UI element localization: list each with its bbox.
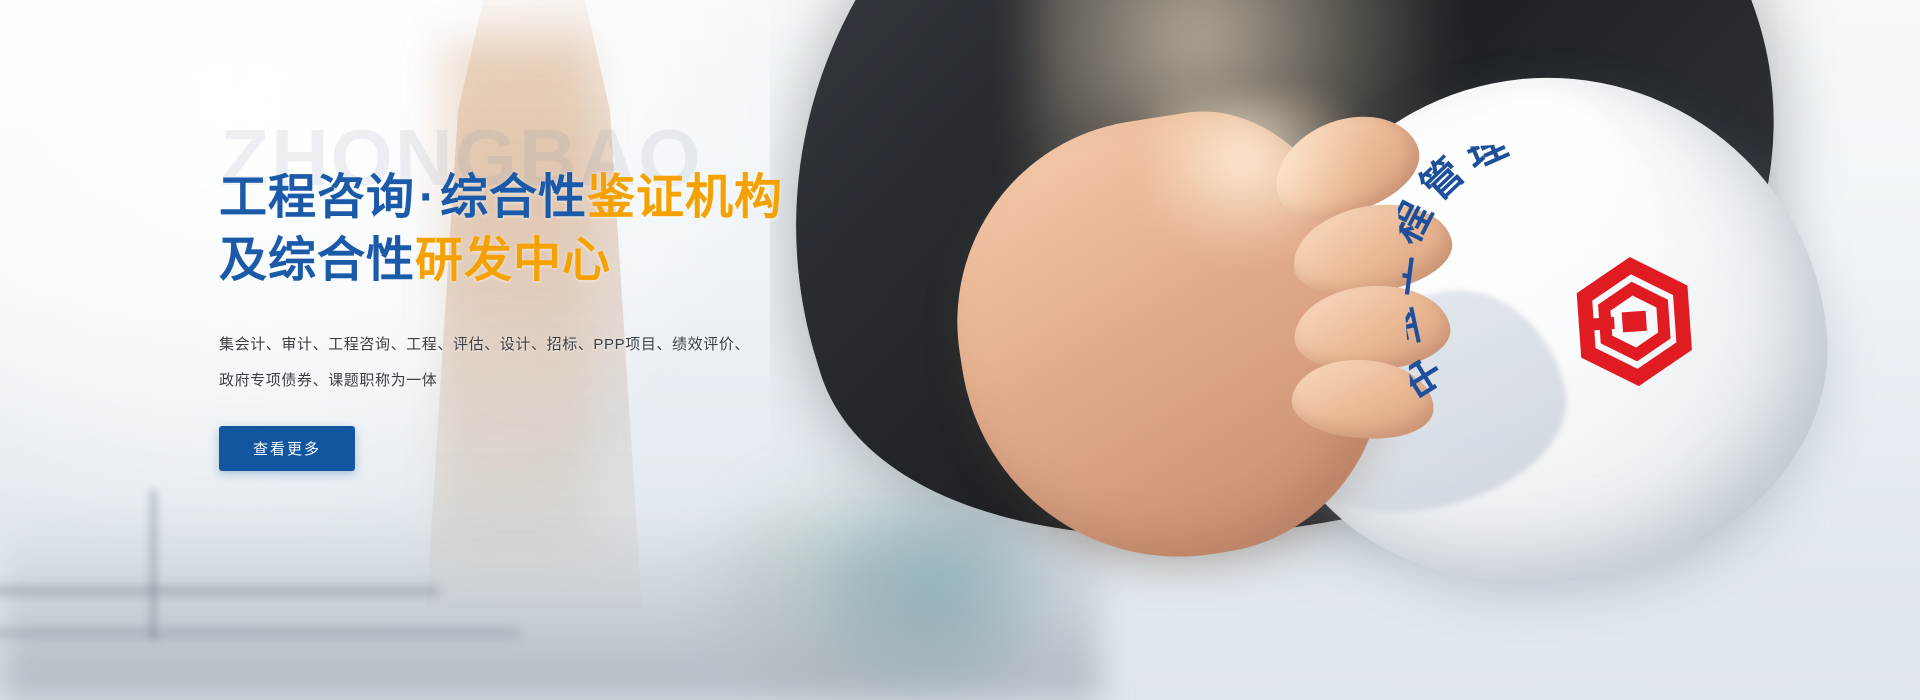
- headline-line1-accent: 鉴证机构: [587, 171, 783, 224]
- helmet-brand-mark: 中宝工程管理: [1394, 129, 1746, 481]
- background-post: [150, 490, 157, 640]
- helmet-brand-text: 中宝工程管理: [1394, 129, 1539, 408]
- hexagon-logo: [1583, 262, 1687, 380]
- description-line-2: 政府专项债券、课题职称为一体: [219, 372, 437, 389]
- page-title: 工程咨询·综合性鉴证机构 及综合性研发中心: [219, 166, 979, 293]
- headline-line2-accent: 研发中心: [415, 234, 611, 287]
- background-rail-upper: [0, 586, 440, 596]
- view-more-button[interactable]: 查看更多: [219, 426, 355, 471]
- svg-text:中宝工程管理: 中宝工程管理: [1394, 129, 1539, 408]
- hero-content: ZHONGBAO 工程咨询·综合性鉴证机构 及综合性研发中心 集会计、审计、工程…: [219, 118, 979, 471]
- headline-separator-dot: ·: [415, 171, 440, 224]
- headline-line1-blue: 工程咨询: [219, 171, 415, 224]
- hand-highlight: [1150, 96, 1360, 256]
- background-rail-lower: [0, 628, 520, 638]
- headline-line1-blue2: 综合性: [440, 171, 587, 224]
- description-line-1: 集会计、审计、工程咨询、工程、评估、设计、招标、PPP项目、绩效评价、: [219, 336, 750, 353]
- hero-banner: 中宝工程管理 ZHONGBAO 工程咨询·综合性鉴证机构 及综合性研发中心 集会…: [0, 0, 1920, 700]
- hero-description: 集会计、审计、工程咨询、工程、评估、设计、招标、PPP项目、绩效评价、 政府专项…: [219, 327, 819, 401]
- headline-line2-blue: 及综合性: [219, 234, 415, 287]
